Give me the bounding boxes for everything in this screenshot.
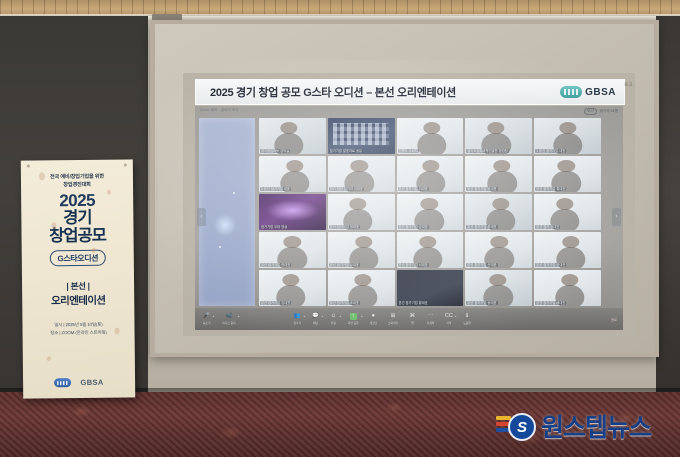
participant-tile[interactable]: 경기도경제과학진흥원 창업팀 bbox=[465, 118, 532, 154]
participant-name-label: 본선 참가기업 황대표 bbox=[398, 301, 429, 305]
banner-title: 경기 창업공모 bbox=[27, 210, 127, 246]
participant-head bbox=[422, 160, 439, 172]
participant-name-label: 본선 참가기업 최대표 bbox=[535, 187, 566, 191]
reactions-icon: ☺ bbox=[330, 313, 337, 320]
toolbar-captions-button[interactable]: CC자막▴ bbox=[445, 313, 452, 325]
logo-circle-s: S bbox=[508, 413, 536, 441]
slide-title-bar: 2025 경기 창업 공모 G스타 오디션 – 본선 오리엔테이션 GBSA bbox=[195, 79, 625, 105]
screenshot-root: 2025 경기 창업 공모 G스타 오디션 – 본선 오리엔테이션 GBSA 로… bbox=[0, 0, 680, 457]
watermark-brand: 원스텝뉴스 bbox=[541, 408, 651, 444]
participant-tile[interactable]: 본선 참가기업 정대표 bbox=[328, 194, 395, 230]
banner-texture-speck bbox=[47, 356, 51, 361]
participant-head bbox=[355, 236, 372, 248]
participant-head bbox=[487, 122, 504, 134]
participant-head bbox=[423, 122, 440, 134]
chevron-up-icon[interactable]: ▴ bbox=[361, 314, 363, 318]
zoom-toolbar: 🎤음소거▴📹비디오 중지▴ 👥참가자▴💬채팅▴☺반응▴↑화면 공유▴⏺레코딩⊞소… bbox=[195, 308, 623, 330]
participant-tile[interactable]: 본선 참가기업 신대표 bbox=[465, 232, 532, 268]
gallery-next-page-button[interactable]: › bbox=[612, 208, 621, 226]
projected-slide: 2025 경기 창업 공모 G스타 오디션 – 본선 오리엔테이션 GBSA 로… bbox=[183, 73, 635, 336]
participant-tile[interactable]: 본선 참가기업 황대표 bbox=[397, 270, 464, 306]
shared-content-panel bbox=[199, 118, 255, 306]
participant-tile[interactable]: 1 본선 참가기업 대표 bbox=[534, 118, 601, 154]
participant-tile[interactable]: 본선 참가기업 서대표 bbox=[397, 232, 464, 268]
banner-year: 2025 bbox=[27, 192, 127, 210]
participant-tile[interactable]: 경기창업허브 강의실 bbox=[259, 118, 326, 154]
gyeonggi-logo-icon bbox=[54, 378, 71, 387]
zoom-meeting-label: Zoom 회의 · 갤러리 보기 bbox=[200, 109, 239, 113]
participant-name-label: 2 본선 참가기업 대표 bbox=[260, 187, 291, 191]
participant-name-label: 본선 참가기업 신대표 bbox=[466, 263, 497, 267]
participant-name-label: 1 본선 참가기업 대표 bbox=[535, 149, 566, 153]
toolbar-share-screen-button[interactable]: ↑화면 공유▴ bbox=[348, 313, 359, 325]
participant-tile[interactable]: 2 본선 참가기업 대표 bbox=[259, 156, 326, 192]
banner-title-line1: 경기 bbox=[27, 210, 127, 229]
chevron-up-icon[interactable]: ▴ bbox=[455, 314, 457, 318]
apps-icon: ⌘ bbox=[409, 313, 416, 320]
participant-name-label: 본선 참가기업 오대표 bbox=[329, 263, 360, 267]
panel-dot bbox=[233, 192, 235, 194]
leave-meeting-button[interactable]: 종료 bbox=[611, 317, 617, 322]
participant-name-label: 참가기업 무대 영상 bbox=[260, 225, 288, 229]
toolbar-apps-button[interactable]: ⌘앱 bbox=[409, 313, 416, 325]
banner-details: 일시 | 2025년 5월 10일(토) 장소 | ZOOM (온라인 스트리밍… bbox=[28, 321, 128, 338]
toolbar-info-button[interactable]: ℹ도움말 bbox=[463, 313, 470, 325]
breakout-icon: ⊞ bbox=[389, 313, 396, 320]
toolbar-participants-button[interactable]: 👥참가자▴ bbox=[294, 313, 301, 325]
banner-logo-row: GBSA bbox=[23, 377, 135, 387]
gbsa-wordmark: GBSA bbox=[585, 87, 616, 98]
participant-tile[interactable]: 본선 참가기업 최대표 bbox=[534, 156, 601, 192]
participant-head bbox=[284, 236, 301, 248]
zoom-top-bar: Zoom 회의 · 갤러리 보기 보기 참가자 41명 bbox=[195, 106, 623, 116]
participants-icon: 👥 bbox=[294, 313, 301, 320]
participant-tile[interactable]: 본선 참가 장대표 bbox=[534, 194, 601, 230]
toolbar-record-button[interactable]: ⏺레코딩 bbox=[370, 313, 377, 325]
toolbar-button-label: 참가자 bbox=[294, 321, 301, 325]
participant-tile[interactable]: 본선 참가기업 박대표 bbox=[465, 156, 532, 192]
toolbar-button-label: 도움말 bbox=[463, 321, 470, 325]
shared-screen-thumbnail bbox=[333, 123, 389, 145]
participant-tile[interactable]: 본선 참가기업 강대표 bbox=[397, 194, 464, 230]
participant-head bbox=[489, 274, 506, 286]
chat-icon: 💬 bbox=[312, 313, 319, 320]
participant-name-label: 본선 참가기업 송대표 bbox=[466, 301, 497, 305]
toolbar-breakout-button[interactable]: ⊞소회의실 bbox=[388, 313, 398, 325]
participant-tile[interactable]: 본선 참가기업 배대표 bbox=[534, 270, 601, 306]
participant-head bbox=[286, 160, 303, 172]
toolbar-button-label: 소회의실 bbox=[388, 321, 398, 325]
participant-tile[interactable]: 경기 창업 참가자 김대표 bbox=[328, 156, 395, 192]
participant-head bbox=[351, 160, 368, 172]
participant-head bbox=[419, 236, 436, 248]
zoom-view-controls[interactable]: 보기 참가자 41명 bbox=[584, 108, 618, 115]
participant-tile[interactable]: 참가기업 무대 영상 bbox=[259, 194, 326, 230]
participants-count: 참가자 41명 bbox=[600, 109, 618, 114]
zoom-toolbar-audio-video-group: 🎤음소거▴📹비디오 중지▴ bbox=[195, 313, 236, 325]
toolbar-button-label: 반응 bbox=[331, 321, 336, 325]
participant-name-label: 본선 참가기업 한대표 bbox=[260, 263, 291, 267]
chevron-up-icon[interactable]: ▴ bbox=[238, 314, 240, 318]
participant-name-label: 경기창업허브 강의실 bbox=[260, 149, 290, 153]
participant-head bbox=[562, 236, 579, 248]
participant-name-label: 본선 참가기업 정대표 bbox=[329, 225, 360, 229]
banner-texture-speck bbox=[115, 328, 120, 335]
microphone-icon: 🎤 bbox=[203, 313, 210, 320]
banner-program-chip: G스타오디션 bbox=[49, 250, 106, 267]
participant-name-label: 본선 참가기업 배대표 bbox=[535, 301, 566, 305]
chevron-up-icon[interactable]: ▴ bbox=[321, 314, 323, 318]
rollup-banner: 전국 예비/창업기업을 위한 창업경진대회 2025 경기 창업공모 G스타오디… bbox=[21, 159, 135, 398]
participant-name-label: 진행자 사회자 bbox=[398, 149, 419, 153]
participant-head bbox=[421, 198, 438, 210]
participant-head bbox=[556, 198, 573, 210]
toolbar-button-label: 화면 공유 bbox=[348, 321, 359, 325]
toolbar-button-label: 자세히 bbox=[427, 321, 434, 325]
participant-tile[interactable]: 참가기업 발표자료 공유 bbox=[328, 118, 395, 154]
banner-grommet bbox=[124, 163, 127, 166]
toolbar-button-label: 비디오 중지 bbox=[222, 321, 235, 325]
toolbar-more-button[interactable]: ⋯자세히 bbox=[427, 313, 434, 325]
toolbar-button-label: 레코딩 bbox=[370, 321, 377, 325]
banner-kicker-line2: 창업경진대회 bbox=[27, 181, 127, 190]
participant-tile[interactable]: 본선 참가기업 송대표 bbox=[465, 270, 532, 306]
toolbar-chat-button[interactable]: 💬채팅▴ bbox=[312, 313, 319, 325]
gbsa-wordmark: GBSA bbox=[80, 378, 103, 387]
participant-tile[interactable]: 진행자 사회자 bbox=[397, 118, 464, 154]
onestepnews-logo-icon: S bbox=[496, 411, 536, 441]
participant-head bbox=[349, 198, 366, 210]
participant-head bbox=[354, 274, 371, 286]
zoom-gallery-grid: 경기창업허브 강의실참가기업 발표자료 공유진행자 사회자경기도경제과학진흥원 … bbox=[259, 118, 601, 306]
gbsa-logo: GBSA bbox=[560, 86, 624, 98]
captions-icon: CC bbox=[445, 313, 452, 320]
banner-texture-speck bbox=[39, 172, 45, 180]
zoom-toolbar-main-group: 👥참가자▴💬채팅▴☺반응▴↑화면 공유▴⏺레코딩⊞소회의실⌘앱⋯자세히CC자막▴… bbox=[294, 313, 471, 325]
participant-name-label: 참가기업 발표자료 공유 bbox=[329, 149, 363, 153]
participant-name-label: 본선 참가 장대표 bbox=[535, 225, 560, 229]
share-screen-icon: ↑ bbox=[350, 313, 357, 320]
banner-grommet bbox=[27, 164, 30, 167]
camera-icon: 📹 bbox=[225, 313, 232, 320]
banner-title-line2: 창업공모 bbox=[27, 227, 127, 246]
participant-head bbox=[491, 236, 508, 248]
gbsa-mark-icon bbox=[560, 86, 582, 98]
banner-texture-speck bbox=[51, 222, 56, 229]
participant-tile[interactable]: 본선 참가기업 한대표 bbox=[259, 232, 326, 268]
toolbar-button-label: 자막 bbox=[446, 321, 451, 325]
participant-name-label: 본선 참가기업 윤대표 bbox=[466, 225, 497, 229]
more-icon: ⋯ bbox=[427, 313, 434, 320]
participant-name-label: 경기 창업 참가자 김대표 bbox=[329, 187, 364, 191]
participant-name-label: 본선 참가기업 서대표 bbox=[398, 263, 429, 267]
news-watermark: S 원스텝뉴스 bbox=[496, 408, 651, 444]
banner-event-type: 오리엔테이션 bbox=[28, 293, 128, 309]
info-icon: ℹ bbox=[464, 313, 471, 320]
toolbar-button-label: 채팅 bbox=[313, 321, 318, 325]
participant-tile[interactable]: 본선 참가기업 조대표 bbox=[328, 270, 395, 306]
logo-bar-yellow bbox=[496, 416, 511, 420]
participant-tile[interactable]: 본선 참가기업 오대표 bbox=[328, 232, 395, 268]
participant-name-label: 본선 참가기업 강대표 bbox=[398, 225, 429, 229]
participant-head bbox=[282, 274, 299, 286]
toolbar-camera-button[interactable]: 📹비디오 중지▴ bbox=[222, 313, 235, 325]
participant-name-label: 본선 참가기업 이대표 bbox=[398, 187, 429, 191]
participant-name-label: 본선 참가기업 박대표 bbox=[466, 187, 497, 191]
chevron-up-icon[interactable]: ▴ bbox=[339, 314, 341, 318]
chevron-up-icon[interactable]: ▴ bbox=[213, 314, 215, 318]
participant-tile[interactable]: 본선 참가기업 권대표 bbox=[534, 232, 601, 268]
participant-head bbox=[493, 160, 510, 172]
toolbar-reactions-button[interactable]: ☺반응▴ bbox=[330, 313, 337, 325]
participant-head bbox=[561, 274, 578, 286]
panel-dot bbox=[219, 246, 221, 248]
participant-head bbox=[559, 122, 576, 134]
participant-tile[interactable]: 본선 참가기업 윤대표 bbox=[465, 194, 532, 230]
projector-glare bbox=[213, 214, 237, 236]
participant-name-label: 본선 참가기업 임대표 bbox=[260, 301, 291, 305]
toolbar-microphone-button[interactable]: 🎤음소거▴ bbox=[203, 313, 210, 325]
participant-name-label: 경기도경제과학진흥원 창업팀 bbox=[466, 149, 508, 153]
participant-tile[interactable]: 본선 참가기업 임대표 bbox=[259, 270, 326, 306]
participant-head bbox=[558, 160, 575, 172]
view-mode-button[interactable]: 보기 bbox=[584, 108, 597, 115]
gallery-prev-page-button[interactable]: ‹ bbox=[197, 208, 206, 226]
chevron-up-icon[interactable]: ▴ bbox=[303, 314, 305, 318]
participant-name-label: 본선 참가기업 권대표 bbox=[535, 263, 566, 267]
participant-head bbox=[280, 122, 297, 134]
participant-silhouette bbox=[417, 133, 446, 154]
zoom-meeting-window: Zoom 회의 · 갤러리 보기 보기 참가자 41명 경기창업허브 강의실참가… bbox=[195, 106, 623, 330]
page-title: 2025 경기 창업 공모 G스타 오디션 – 본선 오리엔테이션 bbox=[196, 84, 560, 100]
participant-tile[interactable]: 본선 참가기업 이대표 bbox=[397, 156, 464, 192]
toolbar-button-label: 앱 bbox=[411, 321, 413, 325]
participant-head bbox=[492, 198, 509, 210]
stage-glow bbox=[266, 200, 319, 220]
banner-stage-label: | 본선 | bbox=[28, 280, 128, 293]
participant-name-label: 본선 참가기업 조대표 bbox=[329, 301, 360, 305]
record-icon: ⏺ bbox=[370, 313, 377, 320]
slide-corner-note: 로고 bbox=[624, 82, 633, 88]
zoom-toolbar-leave-group: 종료 bbox=[611, 317, 623, 322]
toolbar-button-label: 음소거 bbox=[203, 321, 210, 325]
